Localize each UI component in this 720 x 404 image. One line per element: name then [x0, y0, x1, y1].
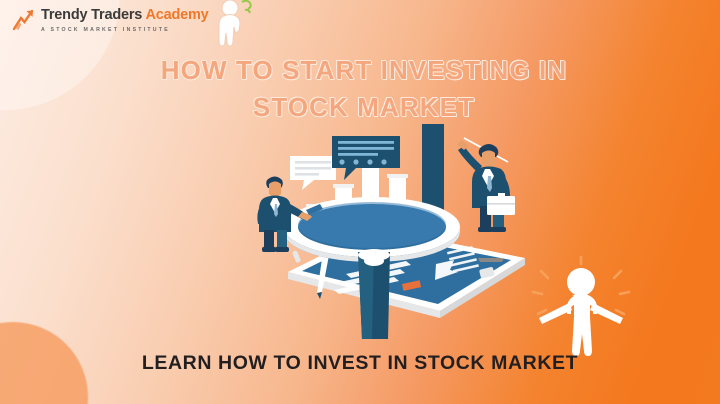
briefcase-icon: [487, 193, 515, 215]
white-person-silhouette-top: [208, 0, 264, 50]
brand-logo[interactable]: Trendy Traders Academy A STOCK MARKET IN…: [12, 8, 209, 33]
stock-market-analysis-illustration: [240, 124, 540, 339]
brand-tagline: A STOCK MARKET INSTITUTE: [41, 28, 209, 33]
speech-bubble-white-icon: [290, 156, 336, 190]
page-title: HOW TO START INVESTING IN STOCK MARKET: [118, 52, 610, 126]
tablet-side-button: [292, 250, 301, 263]
white-person-silhouette-right: [528, 256, 634, 360]
brand-name-row: Trendy Traders Academy: [41, 8, 209, 23]
businessman-right-figure: [457, 138, 515, 262]
brand-name-primary: Trendy Traders: [41, 7, 145, 23]
banner-headline: LEARN HOW TO INVEST IN STOCK MARKET: [60, 352, 660, 375]
trend-arrow-icon: [12, 9, 36, 31]
brand-name-accent: Academy: [145, 7, 208, 23]
brand-wordmark: Trendy Traders Academy A STOCK MARKET IN…: [41, 8, 209, 33]
poster-canvas: Trendy Traders Academy A STOCK MARKET IN…: [0, 0, 720, 404]
